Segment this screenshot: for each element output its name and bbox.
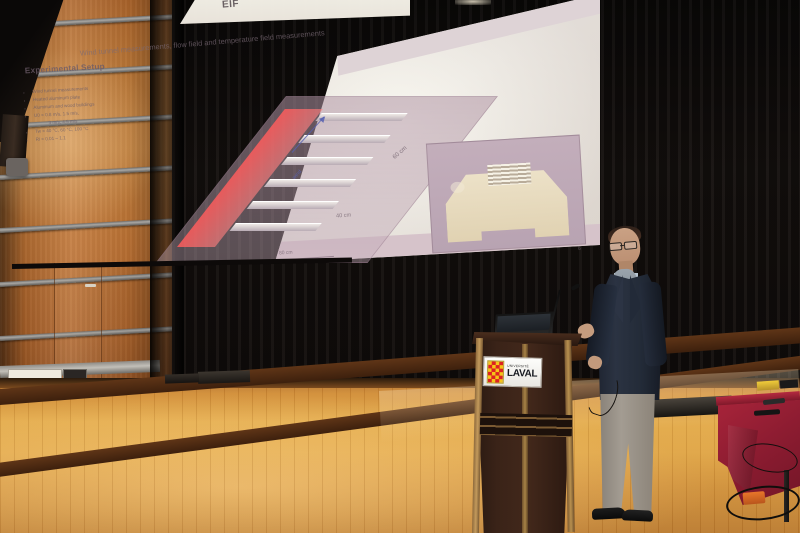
lens-left [609, 242, 623, 251]
building-model [281, 157, 373, 165]
laval-crest-icon [487, 360, 505, 383]
auditorium-photo: EIF Experimental Setup Wind tunnel measu… [0, 0, 800, 533]
stage-light-housing [6, 158, 28, 176]
dimension-label-width: 80 cm [279, 250, 293, 257]
table-item-dark-box[interactable] [780, 379, 799, 388]
building-model [264, 179, 356, 187]
lectern-slats [480, 413, 573, 437]
stage-equipment-case [165, 373, 199, 383]
eyeglasses-icon [608, 241, 638, 250]
lectern: UNIVERSITÉ LAVAL [466, 330, 592, 533]
door-handle[interactable] [85, 284, 96, 287]
plaque-laval-label: LAVAL [507, 368, 538, 379]
laval-logo-plaque: UNIVERSITÉ LAVAL [483, 356, 543, 388]
shoe-right [622, 509, 654, 522]
building-model [315, 113, 407, 121]
inset-building-models [488, 162, 532, 186]
model-photo-inset [426, 135, 586, 254]
building-model [247, 201, 339, 209]
building-model [298, 135, 390, 143]
slide-page-number: 6 [578, 246, 581, 252]
laval-wordmark: UNIVERSITÉ LAVAL [507, 365, 538, 379]
building-model [230, 223, 322, 231]
table-item-yellow-device[interactable] [757, 380, 780, 391]
stage-equipment-case [198, 370, 250, 384]
previous-slide-text: EIF [222, 0, 240, 11]
lens-right [624, 241, 638, 250]
orange-equipment-box [743, 491, 766, 505]
dimension-label-mid: 40 cm [336, 212, 352, 219]
curtain-fold [150, 0, 184, 400]
